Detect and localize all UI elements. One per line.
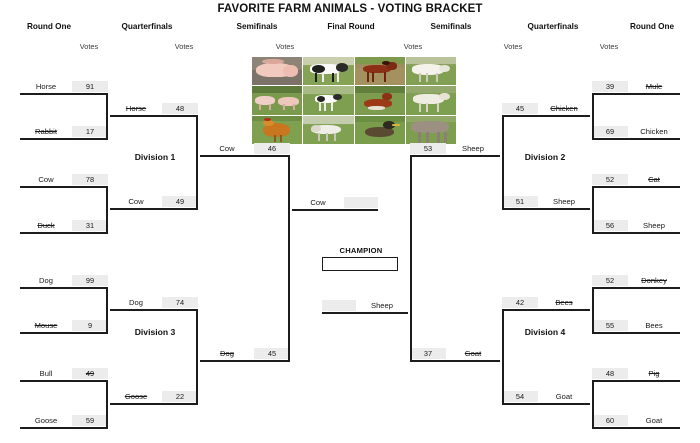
champion-label: CHAMPION <box>322 246 400 255</box>
votes-header-5: Votes <box>492 42 534 51</box>
right-round-one-votes-1: 39 <box>592 81 628 92</box>
bracket-line <box>592 232 680 234</box>
left-round-one-votes-3: 78 <box>72 174 108 185</box>
ewe-photo <box>303 116 353 144</box>
bracket-line <box>196 115 198 209</box>
bracket-line <box>106 186 108 233</box>
bracket-line <box>322 312 408 314</box>
right-quarterfinal-votes-4: 54 <box>502 391 538 402</box>
votes-header-6: Votes <box>588 42 630 51</box>
right-semifinal-name-1: Sheep <box>446 144 500 153</box>
right-round-one-votes-8: 60 <box>592 415 628 426</box>
left-round-one-name-4: Duck <box>20 221 72 230</box>
right-round-one-name-7: Pig <box>628 369 680 378</box>
voting-bracket-page: FAVORITE FARM ANIMALS - VOTING BRACKET R… <box>0 0 700 443</box>
left-quarterfinal-slot-1[interactable]: Horse 48 <box>110 102 198 115</box>
bracket-line <box>502 208 590 210</box>
bracket-line <box>410 155 412 361</box>
left-quarterfinal-votes-4: 22 <box>162 391 198 402</box>
bracket-line <box>502 115 590 117</box>
pig-photo <box>252 57 302 85</box>
column-header-round-one-left: Round One <box>4 22 94 31</box>
column-header-quarterfinals-right: Quarterfinals <box>504 22 602 31</box>
bracket-line <box>20 427 108 429</box>
final-round-votes-left <box>344 197 378 208</box>
right-quarterfinal-slot-2[interactable]: 51 Sheep <box>502 195 590 208</box>
final-round-slot-left[interactable]: Cow <box>292 196 378 209</box>
right-round-one-name-2: Chicken <box>628 127 680 136</box>
votes-header-2: Votes <box>163 42 205 51</box>
left-quarterfinal-votes-2: 49 <box>162 196 198 207</box>
right-round-one-name-3: Cat <box>628 175 680 184</box>
right-round-one-slot-4[interactable]: 56 Sheep <box>592 219 680 232</box>
bracket-line <box>106 93 108 139</box>
column-header-semifinals-right: Semifinals <box>406 22 496 31</box>
right-quarterfinal-name-1: Chicken <box>538 104 590 113</box>
right-round-one-slot-2[interactable]: 69 Chicken <box>592 125 680 138</box>
bracket-line <box>110 309 198 311</box>
final-round-name-right: Sheep <box>356 301 408 310</box>
votes-header-4: Votes <box>392 42 434 51</box>
bracket-line <box>20 186 108 188</box>
left-quarterfinal-votes-3: 74 <box>162 297 198 308</box>
left-semifinal-name-1: Cow <box>200 144 254 153</box>
bracket-line <box>106 380 108 428</box>
right-semifinal-votes-1: 53 <box>410 143 446 154</box>
column-header-round-one-right: Round One <box>608 22 696 31</box>
left-quarterfinal-slot-2[interactable]: Cow 49 <box>110 195 198 208</box>
bracket-line <box>502 403 590 405</box>
bracket-line <box>502 115 504 209</box>
animal-photo-grid <box>252 57 456 144</box>
bracket-line <box>20 287 108 289</box>
left-quarterfinal-name-1: Horse <box>110 104 162 113</box>
foal-photo <box>355 86 405 114</box>
left-quarterfinal-name-2: Cow <box>110 197 162 206</box>
bracket-line <box>110 208 198 210</box>
final-round-name-left: Cow <box>292 198 344 207</box>
column-header-final-round: Final Round <box>310 22 392 31</box>
left-semifinal-votes-1: 46 <box>254 143 290 154</box>
right-quarterfinal-votes-2: 51 <box>502 196 538 207</box>
left-round-one-votes-8: 59 <box>72 415 108 426</box>
right-round-one-name-4: Sheep <box>628 221 680 230</box>
bracket-line <box>292 209 378 211</box>
left-round-one-name-8: Goose <box>20 416 72 425</box>
bracket-line <box>592 93 594 139</box>
left-round-one-votes-7: 49 <box>72 368 108 379</box>
column-header-semifinals-left: Semifinals <box>212 22 302 31</box>
bracket-line <box>592 287 594 333</box>
right-quarterfinal-slot-4[interactable]: 54 Goat <box>502 390 590 403</box>
bracket-line <box>592 332 680 334</box>
bracket-line <box>196 309 198 404</box>
left-round-one-name-5: Dog <box>20 276 72 285</box>
left-round-one-name-3: Cow <box>20 175 72 184</box>
left-semifinal-slot-1[interactable]: Cow 46 <box>200 142 290 155</box>
left-round-one-votes-1: 91 <box>72 81 108 92</box>
right-quarterfinal-slot-1[interactable]: 45 Chicken <box>502 102 590 115</box>
right-round-one-name-8: Goat <box>628 416 680 425</box>
right-round-one-name-1: Mule <box>628 82 680 91</box>
donkey-photo <box>406 116 456 144</box>
right-quarterfinal-name-3: Bees <box>538 298 590 307</box>
bracket-line <box>410 360 500 362</box>
left-semifinal-votes-2: 45 <box>254 348 290 359</box>
left-round-one-slot-3[interactable]: Cow 78 <box>20 173 108 186</box>
right-round-one-votes-2: 69 <box>592 126 628 137</box>
bracket-line <box>200 360 290 362</box>
left-quarterfinal-name-4: Goose <box>110 392 162 401</box>
left-semifinal-name-2: Dog <box>200 349 254 358</box>
bracket-line <box>106 287 108 333</box>
bracket-line <box>20 380 108 382</box>
left-round-one-votes-4: 31 <box>72 220 108 231</box>
right-quarterfinal-votes-3: 42 <box>502 297 538 308</box>
chicken-photo <box>252 116 302 144</box>
left-round-one-name-7: Bull <box>20 369 72 378</box>
right-quarterfinal-slot-3[interactable]: 42 Bees <box>502 296 590 309</box>
column-header-quarterfinals-left: Quarterfinals <box>98 22 196 31</box>
right-round-one-slot-7[interactable]: 48 Pig <box>592 367 680 380</box>
right-semifinal-votes-2: 37 <box>410 348 446 359</box>
bracket-line <box>20 232 108 234</box>
bracket-line <box>410 155 500 157</box>
left-quarterfinal-slot-4[interactable]: Goose 22 <box>110 390 198 403</box>
piglets-photo <box>252 86 302 114</box>
right-round-one-slot-1[interactable]: 39 Mule <box>592 80 680 93</box>
right-quarterfinal-votes-1: 45 <box>502 103 538 114</box>
left-round-one-votes-5: 99 <box>72 275 108 286</box>
right-round-one-slot-3[interactable]: 52 Cat <box>592 173 680 186</box>
cow-photo <box>303 57 353 85</box>
bracket-line <box>20 138 108 140</box>
bracket-line <box>20 93 108 95</box>
left-round-one-votes-6: 9 <box>72 320 108 331</box>
right-semifinal-slot-1[interactable]: 53 Sheep <box>410 142 500 155</box>
right-semifinal-slot-2[interactable]: 37 Goat <box>410 347 500 360</box>
bracket-line <box>592 186 594 233</box>
left-round-one-slot-7[interactable]: Bull 49 <box>20 367 108 380</box>
bracket-line <box>288 155 290 361</box>
left-round-one-name-1: Horse <box>20 82 72 91</box>
bracket-line <box>502 309 504 404</box>
final-round-slot-right[interactable]: Sheep <box>322 299 408 312</box>
bracket-line <box>110 403 198 405</box>
page-title: FAVORITE FARM ANIMALS - VOTING BRACKET <box>0 3 700 15</box>
right-quarterfinal-name-4: Goat <box>538 392 590 401</box>
bracket-line <box>502 309 590 311</box>
left-quarterfinal-name-3: Dog <box>110 298 162 307</box>
right-round-one-votes-3: 52 <box>592 174 628 185</box>
right-round-one-votes-4: 56 <box>592 220 628 231</box>
calf-photo <box>303 86 353 114</box>
bracket-line <box>200 155 290 157</box>
right-round-one-name-5: Donkey <box>628 276 680 285</box>
division-label-4: Division 4 <box>502 327 588 337</box>
left-round-one-slot-5[interactable]: Dog 99 <box>20 274 108 287</box>
right-round-one-name-6: Bees <box>628 321 680 330</box>
right-quarterfinal-name-2: Sheep <box>538 197 590 206</box>
votes-header-3: Votes <box>264 42 306 51</box>
left-round-one-slot-8[interactable]: Goose 59 <box>20 414 108 427</box>
left-round-one-name-6: Mouse <box>20 321 72 330</box>
sheep-photo <box>406 57 456 85</box>
division-label-2: Division 2 <box>502 152 588 162</box>
right-semifinal-name-2: Goat <box>446 349 500 358</box>
bracket-line <box>20 332 108 334</box>
left-round-one-slot-6[interactable]: Mouse 9 <box>20 319 108 332</box>
division-label-1: Division 1 <box>112 152 198 162</box>
bracket-line <box>592 93 680 95</box>
goat-photo <box>406 86 456 114</box>
final-round-votes-right <box>322 300 356 311</box>
bracket-line <box>592 380 594 428</box>
champion-box[interactable] <box>322 257 398 271</box>
left-semifinal-slot-2[interactable]: Dog 45 <box>200 347 290 360</box>
bracket-line <box>592 287 680 289</box>
left-round-one-slot-1[interactable]: Horse 91 <box>20 80 108 93</box>
left-round-one-votes-2: 17 <box>72 126 108 137</box>
duck-photo <box>355 116 405 144</box>
left-quarterfinal-slot-3[interactable]: Dog 74 <box>110 296 198 309</box>
division-label-3: Division 3 <box>112 327 198 337</box>
left-round-one-slot-2[interactable]: Rabbit 17 <box>20 125 108 138</box>
bracket-line <box>110 115 198 117</box>
right-round-one-slot-8[interactable]: 60 Goat <box>592 414 680 427</box>
bracket-line <box>592 186 680 188</box>
votes-header-1: Votes <box>68 42 110 51</box>
left-quarterfinal-votes-1: 48 <box>162 103 198 114</box>
right-round-one-votes-6: 55 <box>592 320 628 331</box>
left-round-one-slot-4[interactable]: Duck 31 <box>20 219 108 232</box>
bracket-line <box>592 380 680 382</box>
left-round-one-name-2: Rabbit <box>20 127 72 136</box>
right-round-one-votes-7: 48 <box>592 368 628 379</box>
bracket-line <box>592 427 680 429</box>
right-round-one-slot-6[interactable]: 55 Bees <box>592 319 680 332</box>
horse-photo <box>355 57 405 85</box>
right-round-one-votes-5: 52 <box>592 275 628 286</box>
right-round-one-slot-5[interactable]: 52 Donkey <box>592 274 680 287</box>
bracket-line <box>592 138 680 140</box>
